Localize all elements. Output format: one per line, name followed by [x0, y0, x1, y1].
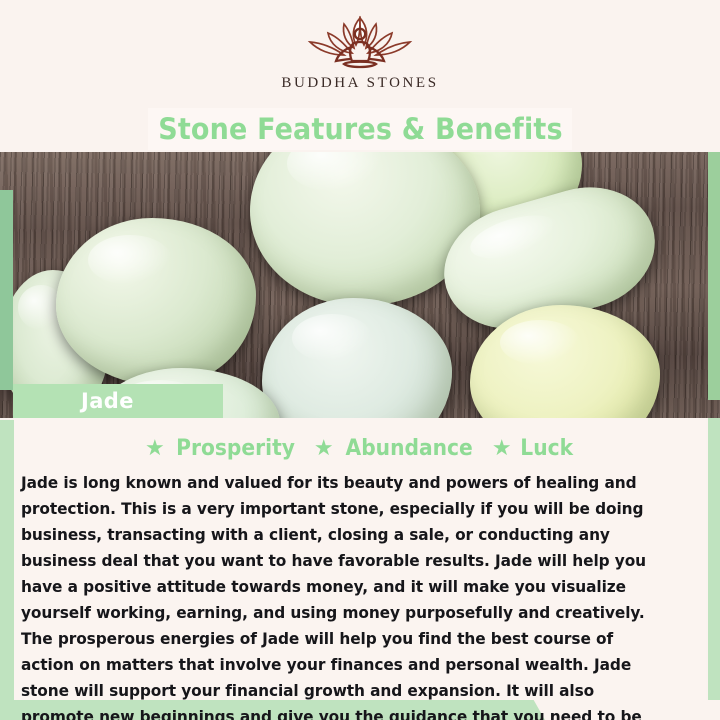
benefit-label: Abundance	[345, 436, 472, 461]
decor-photo-left-green-edge	[0, 190, 13, 390]
stone-photo	[0, 150, 720, 418]
stone-info-card: BUDDHA STONES Stone Features & Benefits …	[0, 0, 720, 720]
benefit-label: Luck	[520, 436, 573, 461]
content-panel: ★ Prosperity ★ Abundance ★ Luck Jade is …	[14, 418, 706, 700]
benefit-item: ★ Luck	[492, 436, 575, 461]
brand-name: BUDDHA STONES	[281, 75, 438, 92]
lotus-meditation-icon	[300, 14, 420, 72]
decor-photo-right-green-edge	[708, 150, 720, 400]
decor-right-green-strip	[708, 400, 720, 700]
stone-description: Jade is long known and valued for its be…	[21, 470, 669, 720]
title-plate: Stone Features & Benefits	[148, 108, 572, 150]
star-icon: ★	[145, 437, 165, 459]
benefits-row: ★ Prosperity ★ Abundance ★ Luck	[14, 428, 706, 468]
benefit-item: ★ Prosperity	[145, 436, 300, 461]
stone-name-band: Jade	[13, 384, 223, 418]
benefit-item: ★ Abundance	[314, 436, 478, 461]
brand-header: BUDDHA STONES	[0, 0, 720, 108]
star-icon: ★	[314, 437, 334, 459]
page-title: Stone Features & Benefits	[158, 112, 563, 146]
stone-name: Jade	[81, 389, 134, 413]
benefit-label: Prosperity	[176, 436, 295, 461]
star-icon: ★	[492, 437, 512, 459]
brand-logo-group: BUDDHA STONES	[281, 14, 438, 92]
decor-left-green-strip	[0, 420, 14, 710]
jade-stone	[56, 218, 256, 386]
